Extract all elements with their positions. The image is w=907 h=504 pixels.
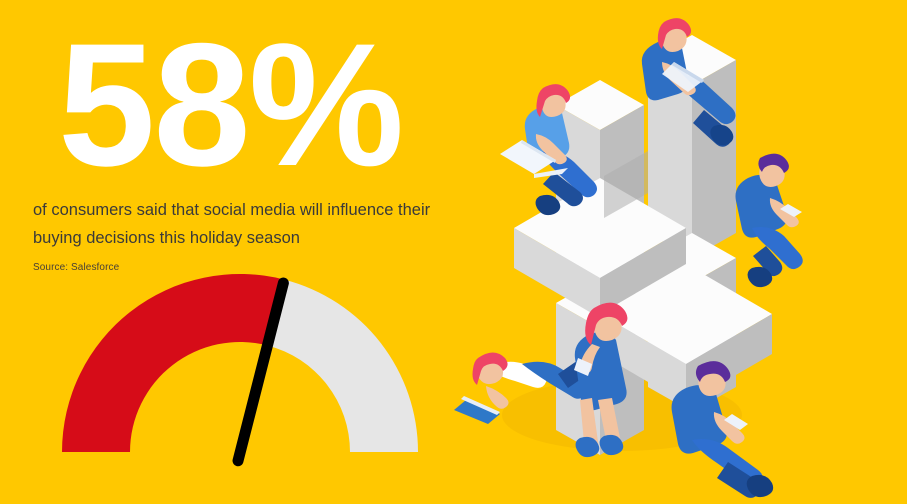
hashtag-illustration	[452, 0, 907, 504]
gauge-remainder-arc	[267, 280, 418, 452]
person-man-right-phone-upper	[736, 154, 803, 287]
isometric-hashtag-svg	[452, 0, 907, 504]
headline-description: of consumers said that social media will…	[33, 196, 443, 253]
gauge-chart	[40, 262, 440, 472]
headline-statistic: 58%	[58, 18, 402, 193]
gauge-chart-svg	[40, 262, 440, 472]
infographic-canvas: 58% of consumers said that social media …	[0, 0, 907, 504]
left-content-column: 58% of consumers said that social media …	[0, 0, 470, 504]
